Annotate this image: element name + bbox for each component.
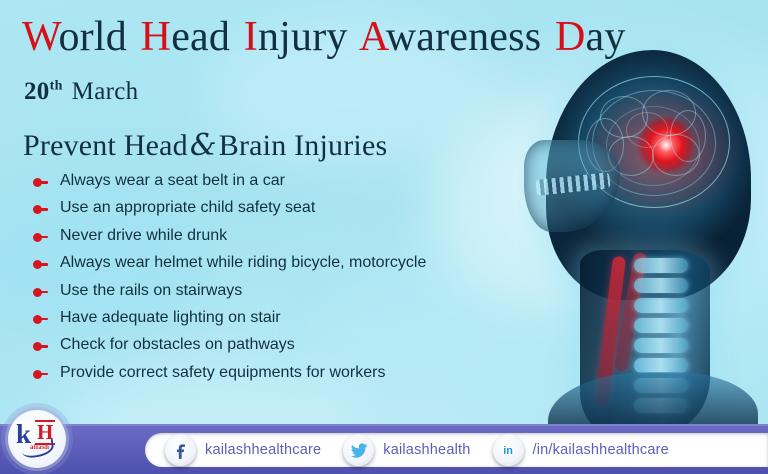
vertebra xyxy=(634,278,688,293)
vertebra xyxy=(634,258,688,273)
tip-text: Check for obstacles on pathways xyxy=(60,336,295,353)
headline-cap: I xyxy=(244,14,258,60)
poster-canvas: World Head Injury Awareness Day 20thMarc… xyxy=(0,0,768,474)
list-item: Always wear a seat belt in a car xyxy=(30,172,500,191)
headline-rest: ay xyxy=(585,14,625,60)
linkedin-icon[interactable]: in xyxy=(493,435,524,466)
tip-text: Use the rails on stairways xyxy=(60,282,242,299)
headline-cap: H xyxy=(141,14,172,60)
headline-rest: wareness xyxy=(386,14,542,60)
headline-word: Injury xyxy=(244,14,348,60)
tip-text: Use an appropriate child safety seat xyxy=(60,199,315,216)
logo-mark: k H ailash xyxy=(14,419,60,459)
page-title: World Head Injury Awareness Day xyxy=(22,16,629,58)
list-item: Provide correct safety equipments for wo… xyxy=(30,364,500,383)
tip-text: Never drive while drunk xyxy=(60,227,227,244)
tip-text: Provide correct safety equipments for wo… xyxy=(60,364,385,381)
social-link-twitter[interactable]: kailashhealth xyxy=(343,435,492,466)
brain-gyrus xyxy=(626,112,668,148)
subtitle: Prevent Head&Brain Injuries xyxy=(23,128,387,163)
date-ordinal: th xyxy=(50,79,63,94)
date-day: 20 xyxy=(24,78,50,105)
ampersand-glyph: & xyxy=(188,128,219,163)
list-item: Always wear helmet while riding bicycle,… xyxy=(30,254,500,273)
date-month: March xyxy=(72,78,139,105)
subtitle-part1: Prevent Head xyxy=(23,129,188,162)
headline-word: Head xyxy=(141,14,230,60)
footer-bar: kailashhealthcare kailashhealth in /in/k… xyxy=(0,424,768,474)
head-brain-illustration xyxy=(518,0,768,430)
vertebra xyxy=(634,358,688,373)
tip-text: Always wear a seat belt in a car xyxy=(60,172,285,189)
list-item: Use the rails on stairways xyxy=(30,282,500,301)
bullet-icon xyxy=(33,260,42,269)
list-item: Never drive while drunk xyxy=(30,227,500,246)
tip-text: Always wear helmet while riding bicycle,… xyxy=(60,254,426,271)
svg-text:in: in xyxy=(503,445,513,457)
event-date: 20thMarch xyxy=(24,78,138,106)
vertebra xyxy=(634,338,688,353)
list-item: Check for obstacles on pathways xyxy=(30,336,500,355)
brain-gyrus xyxy=(670,110,706,162)
social-link-linkedin[interactable]: in /in/kailashhealthcare xyxy=(493,435,691,466)
list-item: Use an appropriate child safety seat xyxy=(30,199,500,218)
headline-rest: orld xyxy=(58,14,126,60)
kailash-logo[interactable]: k H ailash xyxy=(8,410,66,468)
headline-cap: D xyxy=(555,14,586,60)
bullet-icon xyxy=(33,233,42,242)
headline-rest: njury xyxy=(258,14,348,60)
vertebra xyxy=(634,298,688,313)
twitter-icon[interactable] xyxy=(343,435,374,466)
prevention-tips-list: Always wear a seat belt in a car Use an … xyxy=(30,172,500,391)
bullet-icon xyxy=(33,178,42,187)
vertebra xyxy=(634,318,688,333)
headline-cap: A xyxy=(359,14,386,60)
linkedin-handle[interactable]: /in/kailashhealthcare xyxy=(533,442,669,458)
bullet-icon xyxy=(33,370,42,379)
twitter-handle[interactable]: kailashhealth xyxy=(383,442,470,458)
logo-wordmark: ailash xyxy=(30,443,49,451)
bullet-icon xyxy=(33,205,42,214)
headline-word: World xyxy=(22,14,127,60)
facebook-icon[interactable] xyxy=(165,435,196,466)
tip-text: Have adequate lighting on stair xyxy=(60,309,281,326)
social-link-facebook[interactable]: kailashhealthcare xyxy=(165,435,343,466)
bullet-icon xyxy=(33,315,42,324)
headline-cap: W xyxy=(22,14,58,60)
headline-word: Day xyxy=(555,14,626,60)
list-item: Have adequate lighting on stair xyxy=(30,309,500,328)
social-links-pill: kailashhealthcare kailashhealth in /in/k… xyxy=(145,433,768,467)
bullet-icon xyxy=(33,342,42,351)
headline-word: Awareness xyxy=(359,14,541,60)
headline-rest: ead xyxy=(171,14,230,60)
facebook-handle[interactable]: kailashhealthcare xyxy=(205,442,321,458)
subtitle-part2: Brain Injuries xyxy=(219,129,388,162)
bullet-icon xyxy=(33,288,42,297)
